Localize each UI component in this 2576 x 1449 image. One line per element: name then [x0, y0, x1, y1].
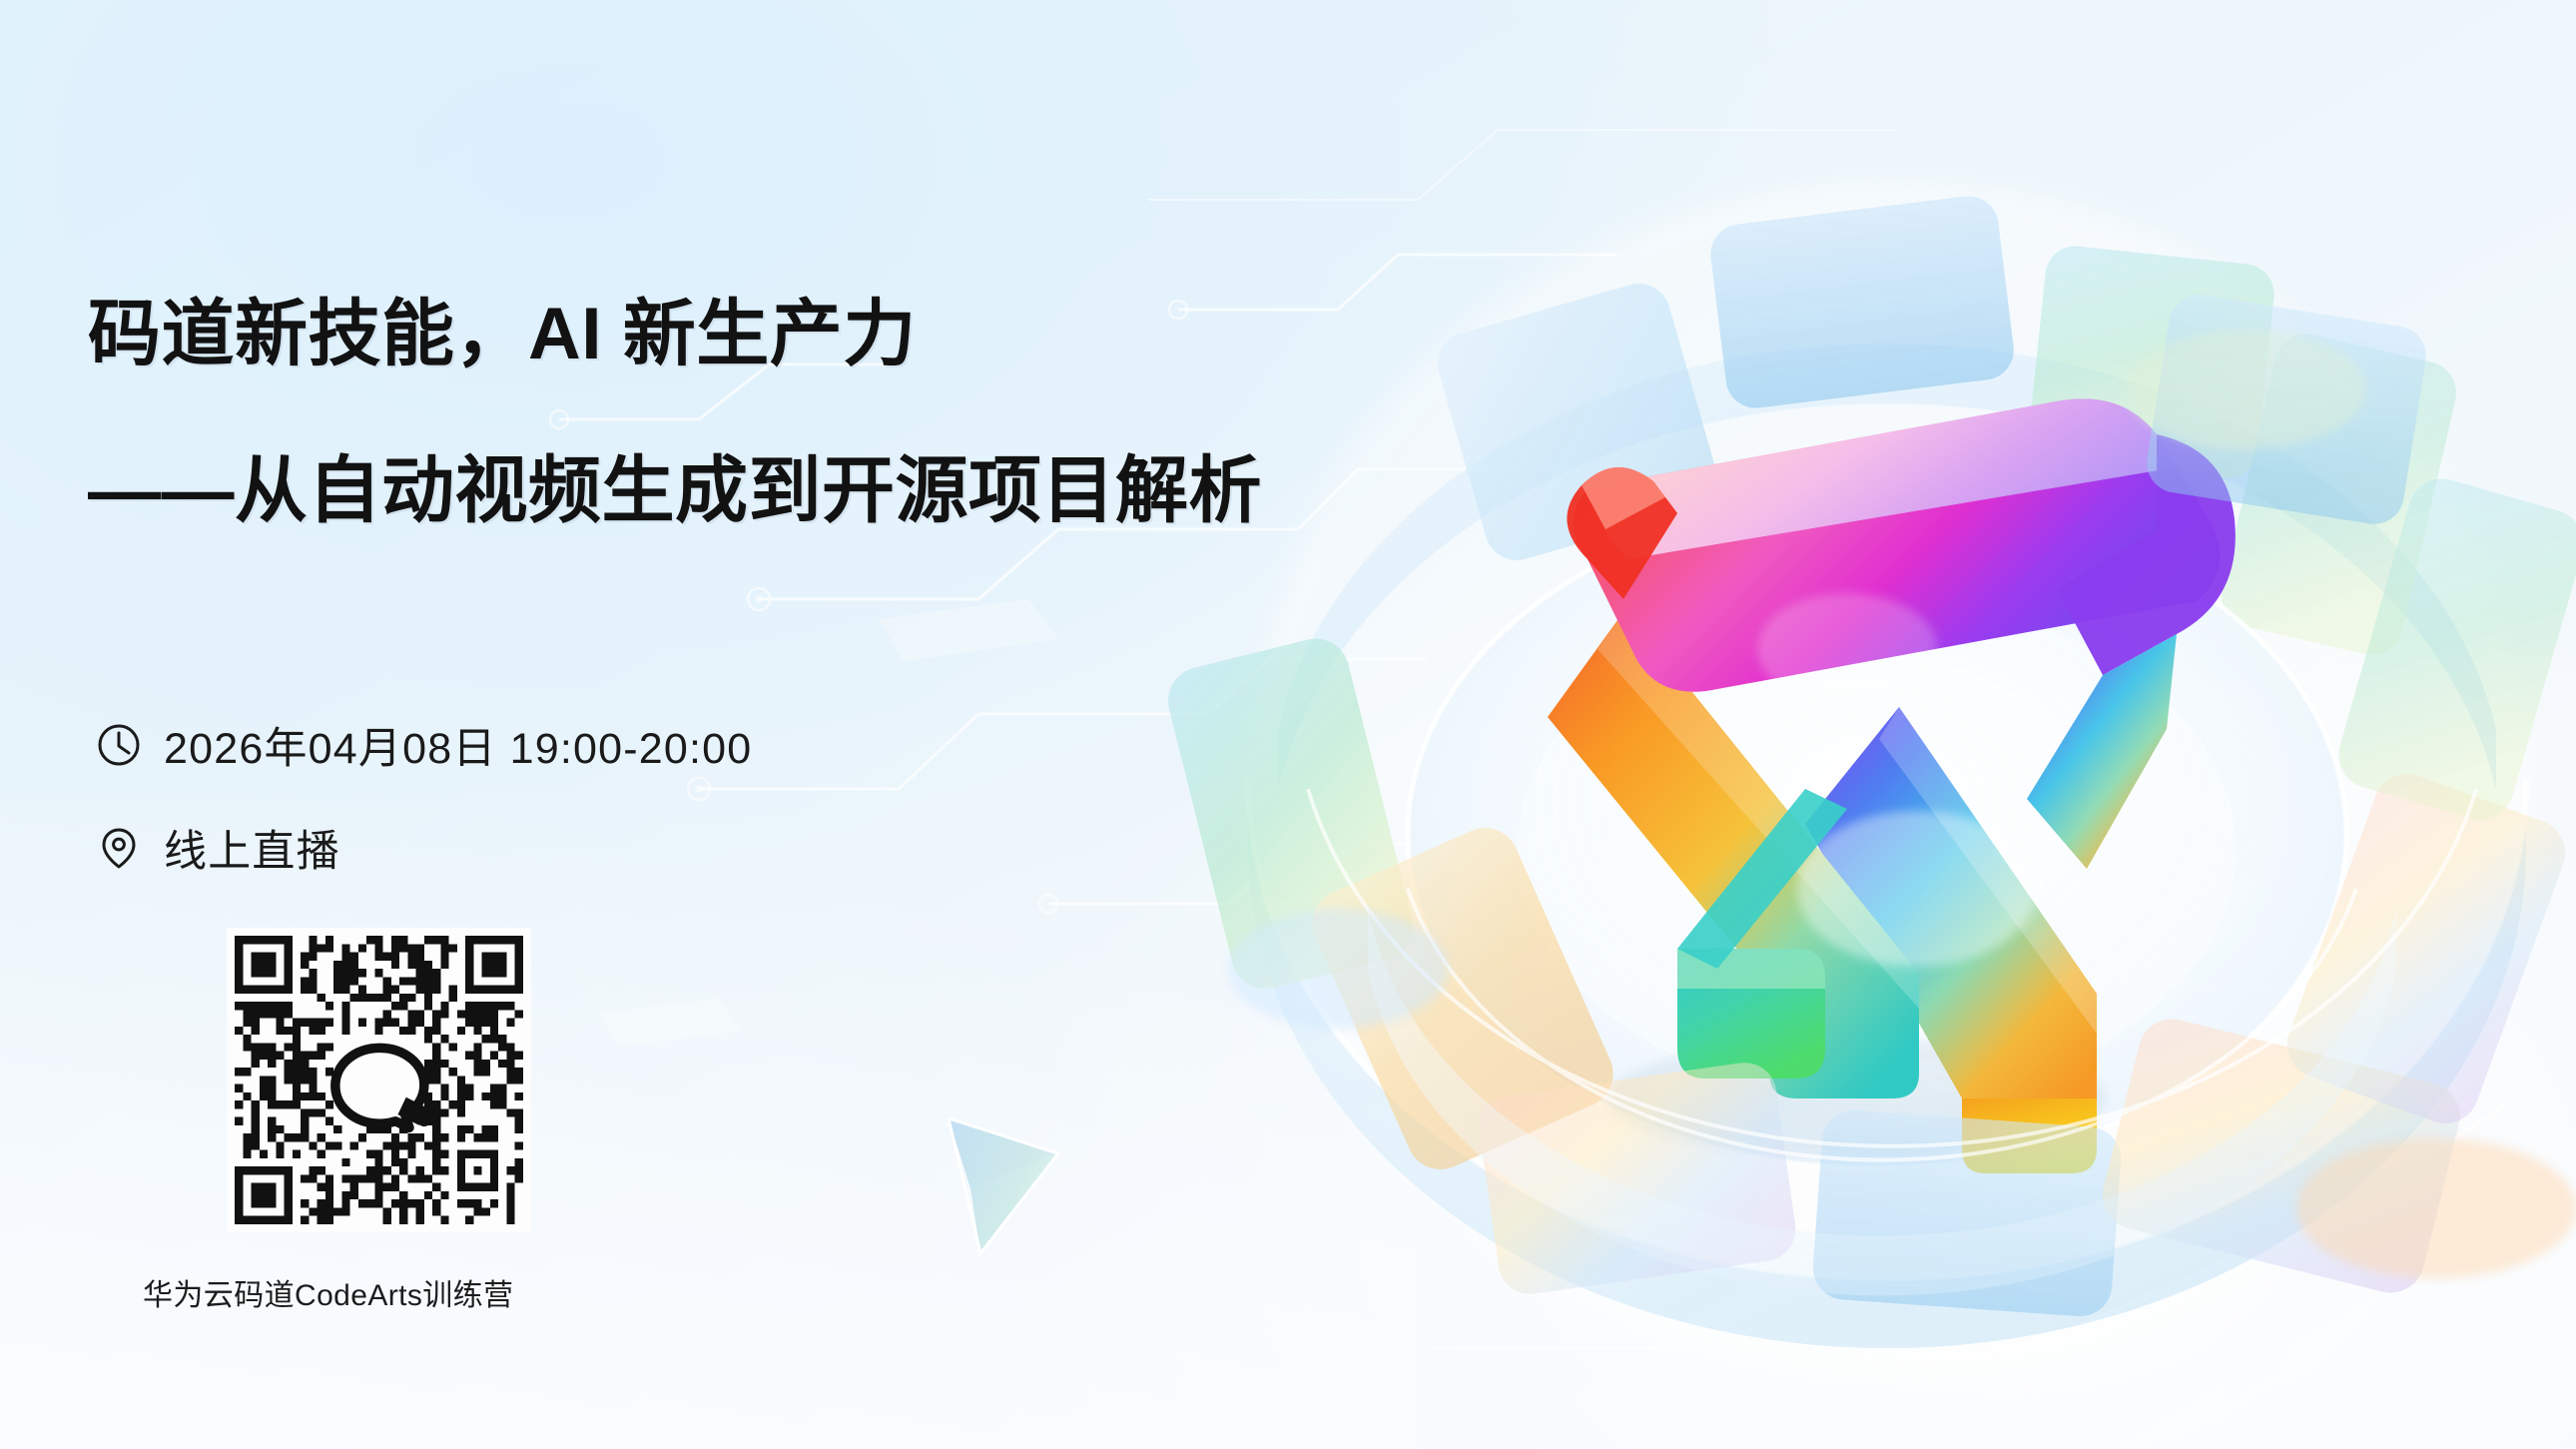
event-place-text: 线上直播: [164, 817, 340, 879]
qr-code-matrix: [227, 928, 531, 1232]
event-place-row: 线上直播: [96, 817, 340, 879]
hero-artwork: [1158, 90, 2576, 1418]
map-pin-icon: [96, 825, 142, 871]
qr-code[interactable]: [227, 928, 531, 1232]
page-subtitle: ——从自动视频生成到开源项目解析: [88, 454, 1262, 527]
poster-root: 码道新技能，AI 新生产力 ——从自动视频生成到开源项目解析 2026年04月0…: [0, 0, 2576, 1449]
clock-icon: [96, 722, 142, 768]
qr-caption: 华为云码道CodeArts训练营: [143, 1270, 622, 1314]
rainbow-ribbon-helix: [1548, 398, 2236, 1173]
event-time-row: 2026年04月08日 19:00-20:00: [96, 714, 752, 776]
glass-petal-ring-back: [1278, 193, 2496, 1168]
event-time-text: 2026年04月08日 19:00-20:00: [164, 714, 752, 776]
page-title: 码道新技能，AI 新生产力: [88, 298, 917, 370]
iridescent-sparkles: [1228, 330, 2576, 1278]
content-column: 码道新技能，AI 新生产力 ——从自动视频生成到开源项目解析 2026年04月0…: [0, 0, 1098, 1449]
glass-petal-ring-front: [1161, 291, 2576, 1348]
background-wash-bottom-right: [978, 507, 2576, 1449]
